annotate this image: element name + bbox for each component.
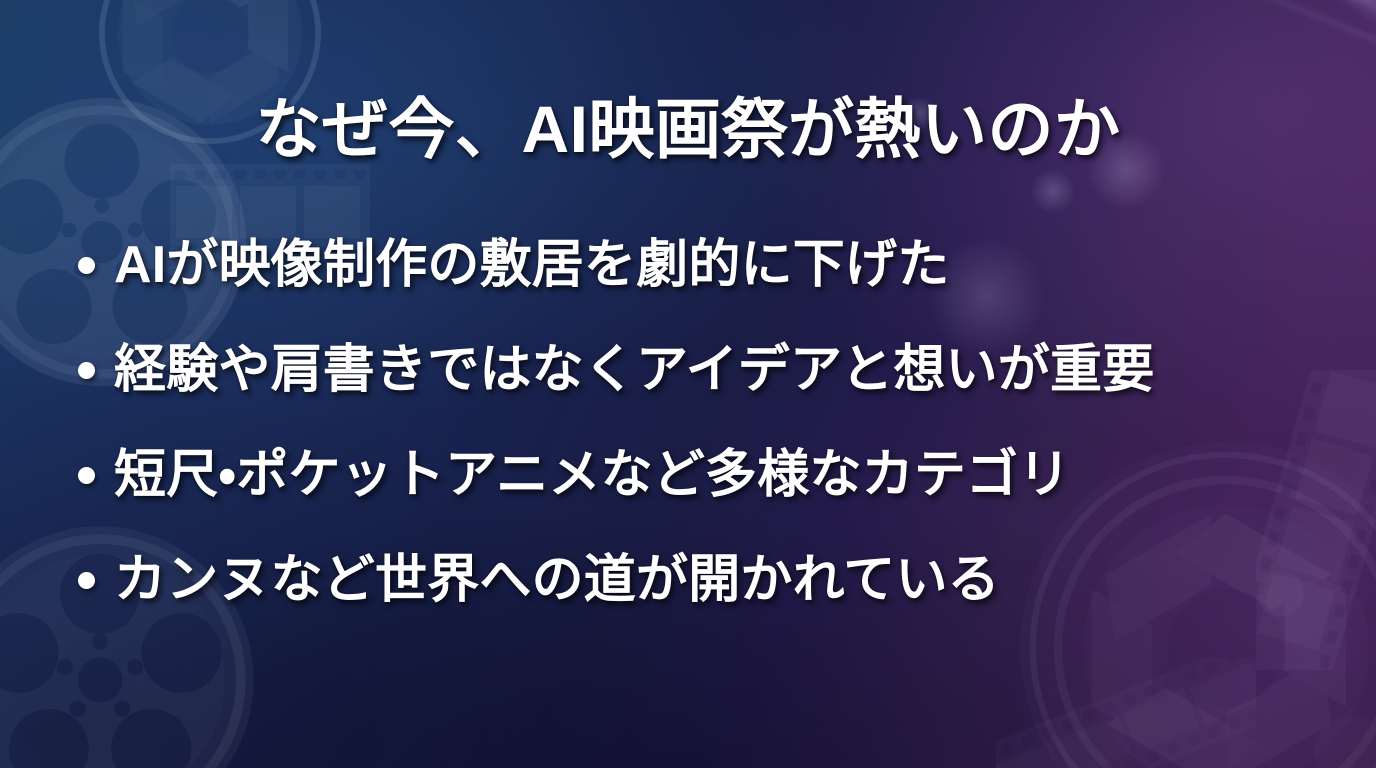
bullet-text: カンヌなど世界への道が開かれている xyxy=(114,553,1000,608)
bullet-item: AIが映像制作の敷居を劇的に下げた xyxy=(78,238,1336,293)
bullet-marker-icon xyxy=(78,257,95,274)
bullet-text: 経験や肩書きではなくアイデアと想いが重要 xyxy=(114,343,1154,398)
bullet-item: 経験や肩書きではなくアイデアと想いが重要 xyxy=(78,343,1336,398)
bullet-marker-icon xyxy=(78,362,95,379)
presentation-slide: なぜ今、AI映画祭が熱いのか AIが映像制作の敷居を劇的に下げた 経験や肩書きで… xyxy=(0,0,1376,768)
bullet-text: AIが映像制作の敷居を劇的に下げた xyxy=(114,238,949,293)
slide-bullet-list: AIが映像制作の敷居を劇的に下げた 経験や肩書きではなくアイデアと想いが重要 短… xyxy=(78,238,1336,608)
bullet-item: カンヌなど世界への道が開かれている xyxy=(78,553,1336,608)
slide-title: なぜ今、AI映画祭が熱いのか xyxy=(0,96,1376,162)
bullet-text: 短尺・ポケットアニメなど多様なカテゴリ xyxy=(114,448,1070,503)
bullet-marker-icon xyxy=(78,572,95,589)
bullet-item: 短尺・ポケットアニメなど多様なカテゴリ xyxy=(78,448,1336,503)
bullet-marker-icon xyxy=(78,467,95,484)
